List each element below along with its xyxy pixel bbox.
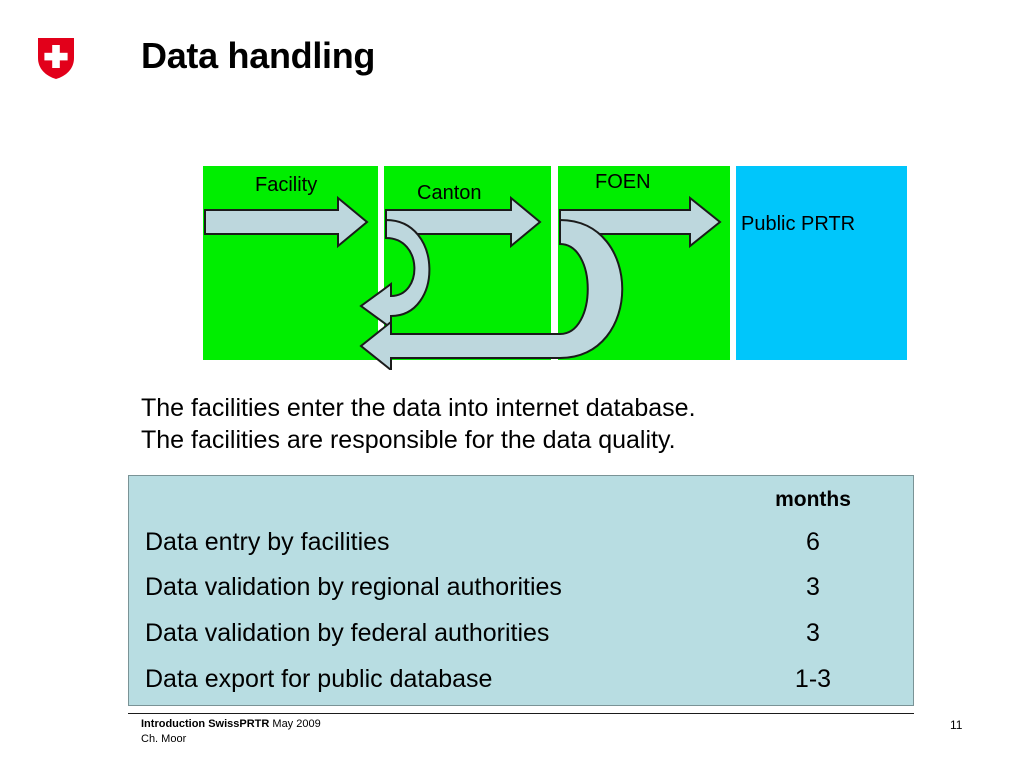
page-title: Data handling [141,34,375,78]
row-value: 1-3 [753,657,873,702]
table-row: Data validation by federal authorities 3 [129,611,913,656]
row-label: Data validation by federal authorities [145,611,549,656]
schedule-table: months Data entry by facilities 6 Data v… [128,475,914,706]
footer-credits: Introduction SwissPRTR May 2009 Ch. Moor [141,717,321,747]
table-row: Data export for public database 1-3 [129,657,913,702]
body-line-1: The facilities enter the data into inter… [141,392,941,424]
footer-title-line: Introduction SwissPRTR May 2009 [141,717,321,732]
footer-title-bold: Introduction SwissPRTR [141,718,269,730]
row-value: 6 [753,520,873,565]
table-row: Data validation by regional authorities … [129,565,913,610]
flow-label-canton: Canton [417,181,482,205]
footer-divider [128,713,914,714]
body-paragraph: The facilities enter the data into inter… [141,392,941,456]
column-header-months: months [753,480,873,520]
footer-author: Ch. Moor [141,732,321,747]
slide-header: Data handling [0,0,1024,120]
data-flow-diagram: Facility Canton FOEN Public PRTR [195,160,915,370]
footer-title-rest: May 2009 [269,718,320,730]
flow-label-foen: FOEN [595,170,651,194]
row-label: Data export for public database [145,657,492,702]
page-number: 11 [950,718,962,733]
body-line-2: The facilities are responsible for the d… [141,424,941,456]
flow-label-facility: Facility [255,173,317,197]
flow-box-public-prtr [736,166,907,360]
flow-label-public-prtr: Public PRTR [741,212,855,236]
row-value: 3 [753,611,873,656]
table-header-row: months [129,480,913,525]
row-label: Data validation by regional authorities [145,565,562,610]
swiss-coat-of-arms-icon [36,36,76,80]
row-label: Data entry by facilities [145,520,390,565]
row-value: 3 [753,565,873,610]
table-row: Data entry by facilities 6 [129,520,913,565]
